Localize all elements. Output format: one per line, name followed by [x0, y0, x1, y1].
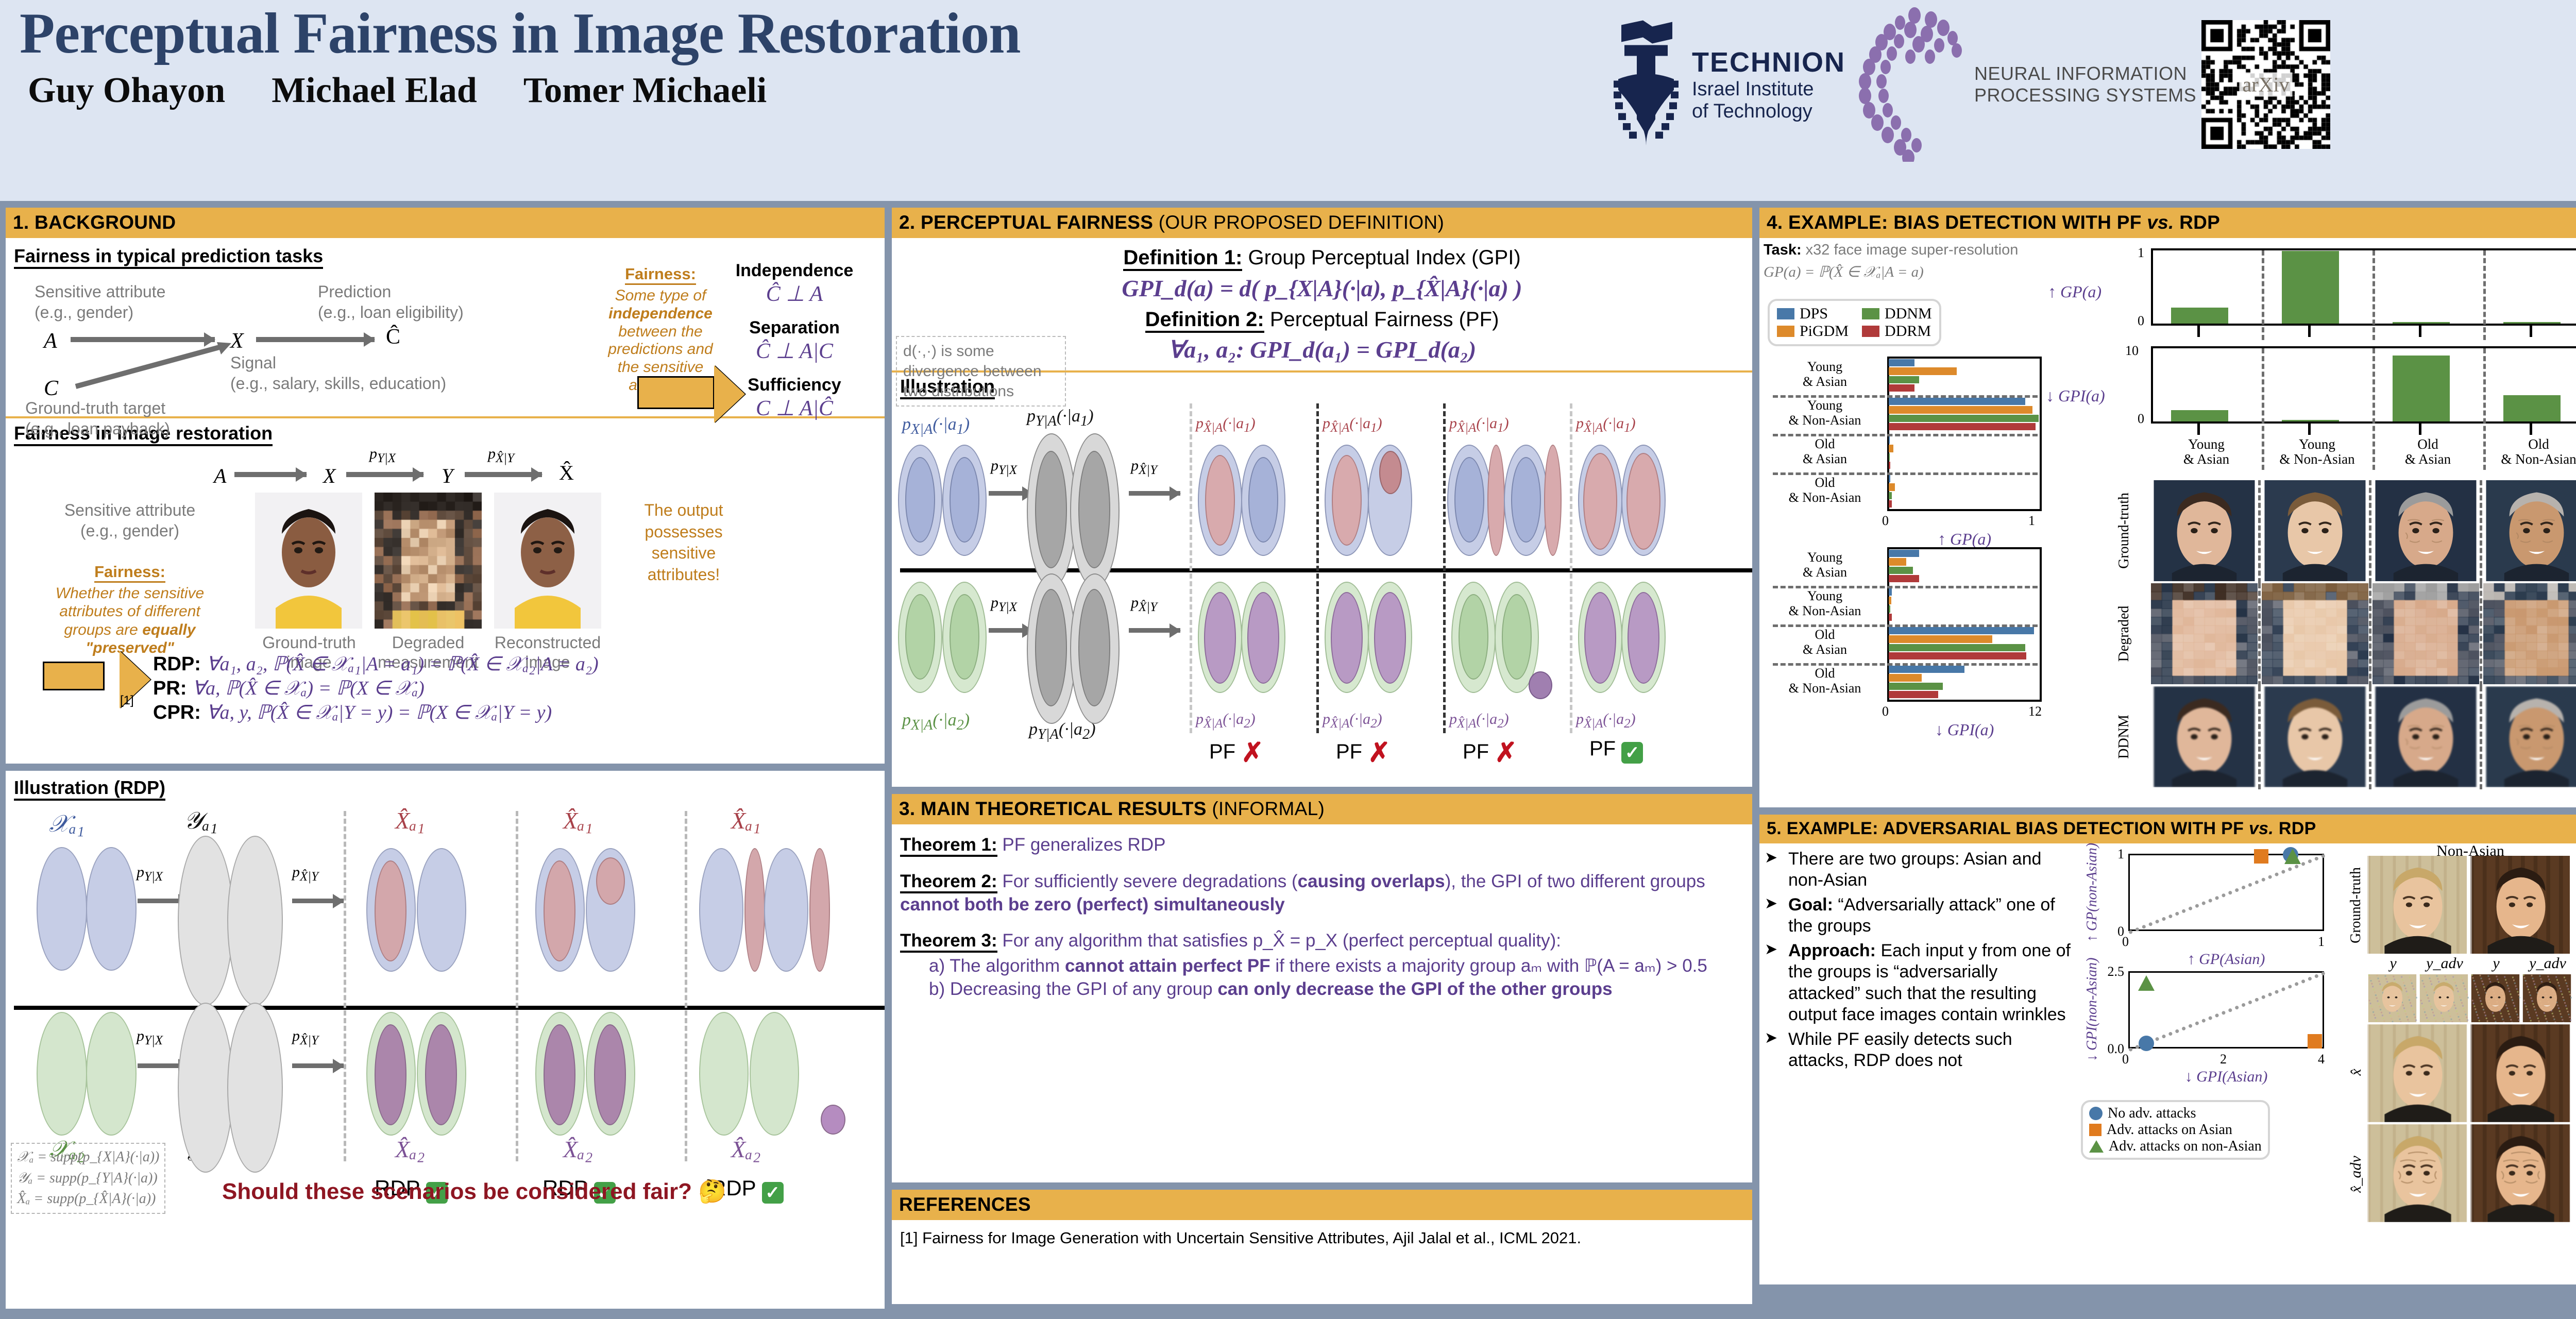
square-marker-icon: [2089, 1124, 2102, 1136]
pf-blob: [1459, 594, 1488, 680]
scatter-point-square: [2308, 1034, 2322, 1049]
col-label-3: y_adv: [2522, 955, 2573, 972]
panel-references: REFERENCES [1] Fairness for Image Genera…: [890, 1188, 1754, 1306]
criterion-independence: Independence Ĉ ⊥ A: [720, 261, 869, 307]
restoration-node-A: A: [214, 464, 226, 488]
x-tick: [2197, 424, 2200, 435]
legend-item-ddnm: DDNM: [1862, 305, 1932, 323]
circle-marker-icon: [2089, 1107, 2103, 1120]
blob-s1-top-1-inner: [375, 860, 406, 961]
prediction-label: Prediction (e.g., loan eligibility): [318, 281, 464, 323]
col-label-0: y: [2367, 955, 2419, 972]
blob-s3-top-4: [809, 848, 830, 972]
bar-DPS: [1889, 627, 2034, 634]
column-1: 1. BACKGROUND Fairness in typical predic…: [4, 206, 886, 1317]
y-tick: 0: [2099, 924, 2124, 939]
poster-header: Perceptual Fairness in Image Restoration…: [0, 0, 2576, 201]
face-degraded: [375, 493, 482, 629]
restoration-arrow-1: [234, 472, 307, 477]
definitions-arrow-icon: [43, 662, 105, 690]
pf-verdict-2: PF ✗: [1336, 737, 1391, 768]
blob-s3-top-3: [764, 848, 808, 972]
category-label: Young& Asian: [1769, 550, 1881, 580]
node-A: A: [44, 329, 57, 353]
face-ground-truth-1: [2367, 856, 2468, 954]
bar: [2171, 308, 2229, 324]
method-legend: DPS PiGDM DDNM: [1768, 299, 1941, 346]
legend-attack-non-asian: Adv. attacks on non-Asian: [2089, 1138, 2262, 1155]
fairness-arrow-icon: [637, 376, 715, 409]
scatter-point-square: [2254, 849, 2268, 864]
y-tick-max: 10: [2125, 343, 2139, 359]
neurips-dots-icon: [1851, 7, 1969, 162]
task-line: Task: x32 face image super-resolution: [1764, 241, 2093, 260]
adversarial-legend: No adv. attacks Adv. attacks on Asian Ad…: [2081, 1100, 2270, 1160]
legend-item-dps: DPS: [1777, 305, 1849, 323]
task-description: Task: x32 face image super-resolution GP…: [1764, 241, 2093, 281]
pf-blob: [1626, 453, 1660, 550]
column-separator: [2480, 480, 2482, 583]
blob-s1-bot-2-inner: [425, 1024, 457, 1125]
blob-s2-bot-1-inner: [544, 1024, 575, 1125]
bar-DPS: [1889, 398, 2025, 405]
pf-label-pY-a1: pY|A(·|a1): [1027, 407, 1094, 430]
category-label: Old& Asian: [1769, 437, 1881, 466]
criterion-separation: Separation Ĉ ⊥ A|C: [720, 318, 869, 364]
rdp-support-legend: 𝒳ₐ = supp(p_{X|A}(·|a)) 𝒴ₐ = supp(p_{Y|A…: [11, 1143, 165, 1214]
node-C: C: [44, 376, 58, 401]
panel-background-heading: 1. BACKGROUND: [6, 208, 885, 238]
definition-cpr: CPR: ∀a, y, ℙ(X̂ ∈ 𝒳ₐ|Y = y) = ℙ(X ∈ 𝒳ₐ|…: [153, 701, 876, 724]
chart-gp-scatter: 0101↑ GP(Asian)↑ GP(non-Asian): [2079, 854, 2347, 980]
fairness-question: Should these scenarios be considered fai…: [222, 1178, 726, 1205]
sensitive-attribute-label: Sensitive attribute (e.g., gender): [35, 281, 165, 323]
qr-code[interactable]: arXiv: [2201, 20, 2330, 149]
category-label: Young& Non-Asian: [1769, 398, 1881, 428]
adversarial-bullets: There are two groups: Asian and non-Asia…: [1765, 849, 2074, 1072]
definition-1-formula: GPI_d(a) = d( p_{X|A}(·|a), p_{X̂|A}(·|a…: [900, 275, 1744, 302]
bar: [2282, 251, 2340, 324]
x-axis-label: ↑ GP(a): [1887, 530, 2042, 549]
neurips-text: NEURAL INFORMATION PROCESSING SYSTEMS: [1974, 63, 2196, 107]
x-tick: 2: [2220, 1052, 2227, 1067]
face-cell: [2372, 480, 2479, 581]
category-label: Old& Asian: [2372, 437, 2483, 467]
definition-rdp: RDP: ∀a₁, a₂, ℙ(X̂ ∈ 𝒳ₐ₁|A = a₁) = ℙ(X̂ …: [153, 652, 876, 675]
column-separator: [2258, 686, 2261, 789]
chart-gp-vertical: 01: [2120, 248, 2576, 343]
bar-DDRM: [1889, 500, 1892, 508]
triangle-marker-icon: [2089, 1140, 2104, 1153]
pf-verdict-label: PF: [1463, 740, 1489, 763]
y-tick: 2.5: [2099, 964, 2124, 979]
theorem-3-item-b: b) Decreasing the GPI of any group can o…: [929, 978, 1744, 1001]
scatter-point-triangle: [2138, 975, 2155, 991]
ground-truth-target-label: Ground-truth target (e.g., loan payback): [25, 398, 170, 439]
pf-verdict-label: PF: [1589, 737, 1616, 760]
author-2: Michael Elad: [272, 70, 477, 111]
bar-DPS: [1889, 666, 1964, 673]
edge-label-pXhatY: pX̂|Y: [488, 445, 514, 466]
reference-entry-1: [1] Fairness for Image Generation with U…: [900, 1227, 1744, 1249]
x-tick-max: 1: [2028, 513, 2035, 529]
bar-DDRM: [1889, 384, 1914, 392]
bullet-4: While PF easily detects such attacks, RD…: [1765, 1029, 2074, 1072]
label-Xhat-a2-s2: X̂ₐ₂: [563, 1136, 593, 1163]
row-label-degraded: Degraded: [2116, 582, 2132, 685]
label-Xhat-a2-s3: X̂ₐ₂: [731, 1136, 761, 1163]
cross-icon: ✗: [1241, 738, 1264, 768]
restoration-node-Y: Y: [442, 464, 453, 488]
row-label-xhat-adv: x̂_adv: [2347, 1128, 2365, 1221]
pf-blob: [1628, 592, 1659, 684]
panel-pf-heading: 2. PERCEPTUAL FAIRNESS (OUR PROPOSED DEF…: [892, 208, 1752, 238]
bar-DDNM: [1889, 683, 1943, 690]
chart-gpi-vertical: Young& AsianYoung& Non-AsianOld& AsianOl…: [2120, 346, 2576, 473]
scenario-divider-2: [516, 811, 518, 1161]
column-separator: [2480, 583, 2482, 686]
bar-PiGDM: [1889, 367, 1957, 375]
pf-blob: [1205, 455, 1235, 546]
group-separator: [14, 1006, 885, 1010]
bar-DPS: [1889, 588, 1892, 596]
bar: [2503, 322, 2561, 324]
edge-pYX-2: pY|X: [137, 1027, 163, 1048]
technion-name: TECHNION: [1692, 46, 1845, 78]
pf-edge-pXhatY-2: pX̂|Y: [1131, 594, 1157, 615]
legend-swatch-dps: [1777, 308, 1794, 319]
face-reconstructed-adv-2: [2470, 1124, 2571, 1222]
bar-DPS: [1889, 550, 1919, 557]
face-cell: [2483, 686, 2576, 787]
category-separator: [2483, 250, 2486, 340]
pf-verdict-label: PF: [1336, 740, 1362, 763]
category-label: Young& Non-Asian: [2262, 437, 2372, 467]
bar-DDRM: [1889, 575, 1919, 582]
pf-blob-y2-2b: [1078, 589, 1110, 706]
x-tick: [2530, 424, 2532, 435]
pf-arrow-4: [1129, 628, 1180, 633]
face-ground-truth-2: [2470, 856, 2571, 954]
face-cell: [2483, 480, 2576, 581]
author-1: Guy Ohayon: [28, 70, 225, 111]
pf-illustration-diagram: pX|A(·|a1) pY|A(·|a1) pX|A(·|a2) pY|A(·|…: [900, 403, 1744, 764]
pf-label-pY-a2: pY|A(·|a2): [1029, 720, 1096, 743]
bar-PiGDM: [1889, 558, 1906, 565]
pf-label-pXhat-a1-1: pX̂|A(·|a1): [1196, 415, 1256, 435]
chart-gpi-scatter: 0240.02.5↓ GPI(Asian)↓ GPI(non-Asian): [2079, 971, 2347, 1098]
x-axis-label: ↓ GPI(a): [1887, 720, 2042, 739]
column-separator: [2369, 480, 2371, 583]
pf-blob-y1-2b: [1078, 451, 1110, 568]
arrow-rdp-2: [292, 899, 344, 903]
pf-blob: [1332, 455, 1362, 546]
face-measurement-3: [2470, 974, 2520, 1022]
legend-swatch-ddnm: [1862, 308, 1879, 319]
bar: [2393, 356, 2450, 421]
reference-marker: [1]: [120, 694, 134, 708]
y-axis-label: ↑ GP(non-Asian): [2084, 841, 2100, 944]
theorem-1: Theorem 1: PF generalizes RDP: [900, 834, 1744, 857]
face-cell: [2262, 686, 2368, 787]
blob-Ya2-1: [178, 1003, 233, 1173]
panel-references-heading: REFERENCES: [892, 1190, 1752, 1220]
blob-Xa2-1: [37, 1012, 87, 1136]
restoration-sensitive-label: Sensitive attribute (e.g., gender): [45, 500, 215, 541]
legend-item-pigdm: PiGDM: [1777, 323, 1849, 340]
face-measurement-2: [2419, 974, 2469, 1022]
category-separator: [2262, 250, 2264, 340]
face-measurement-1: [2367, 974, 2417, 1022]
legend-swatch-ddrm: [1862, 326, 1879, 337]
category-separator: [1773, 434, 2038, 436]
arrow-X-to-Chat: [256, 337, 375, 342]
pf-label-pXhat-a2-2: pX̂|A(·|a2): [1323, 711, 1382, 731]
face-reconstructed-1: [2367, 1024, 2468, 1122]
pf-group-separator: [900, 568, 1752, 572]
panel-bias-detection: 4. EXAMPLE: BIAS DETECTION WITH PF vs. R…: [1758, 206, 2576, 809]
restoration-arrow-2: [346, 472, 423, 477]
blob-Ya2-2: [227, 1003, 283, 1173]
x-axis-label: ↓ GPI(Asian): [2128, 1068, 2324, 1086]
pf-label-pXhat-a2-3: pX̂|A(·|a2): [1449, 711, 1509, 731]
category-separator: [2372, 250, 2375, 340]
face-reconstructed: [494, 493, 601, 629]
category-label: Old& Non-Asian: [1769, 666, 1881, 696]
category-label: Old& Non-Asian: [1769, 476, 1881, 505]
edge-pXhatY-1: pX̂|Y: [292, 864, 318, 884]
label-Xa1: 𝒳ₐ₁: [49, 810, 84, 838]
face-measurement-4: [2522, 974, 2572, 1022]
bullet-3: Approach: Each input y from one of the g…: [1765, 940, 2074, 1026]
category-label: Young& Asian: [1769, 360, 1881, 389]
fairness-note: Fairness: Some type of independence betw…: [601, 265, 720, 395]
pf-label-pXhat-a1-2: pX̂|A(·|a1): [1323, 415, 1382, 435]
face-cell: [2372, 583, 2479, 684]
y-tick-max: 1: [2138, 245, 2144, 261]
pf-edge-pYX-1: pY|X: [991, 457, 1017, 478]
x-tick: [2419, 326, 2421, 337]
y-axis-label: ↓ GPI(non-Asian): [2084, 958, 2100, 1061]
bar-DDRM: [1889, 462, 1890, 469]
row-label-ground-truth: Ground-truth: [2348, 859, 2364, 952]
panel-theorems-heading: 3. MAIN THEORETICAL RESULTS (INFORMAL): [892, 794, 1752, 824]
col-label-1: y_adv: [2419, 955, 2470, 972]
chart-gp-horizontal: Young& AsianYoung& Non-AsianOld& AsianOl…: [1769, 357, 2062, 555]
signal-label: Signal (e.g., salary, skills, education): [230, 352, 446, 394]
pf-arrow-3: [989, 628, 1033, 633]
technion-logo: TECHNION Israel Institute of Technology: [1607, 18, 1845, 151]
pf-blob: [1204, 592, 1236, 684]
row-label-ddnm: DDNM: [2116, 685, 2132, 788]
x-tick: [2308, 424, 2311, 435]
scatter-point-triangle: [2284, 849, 2301, 864]
theorem-2: Theorem 2: For sufficiently severe degra…: [900, 870, 1744, 917]
face-reconstructed-adv-1: [2367, 1124, 2468, 1222]
pf-blob: [1331, 592, 1363, 684]
x-tick-min: 0: [1882, 513, 1889, 529]
blob-Xa1-2: [86, 847, 137, 971]
theorem-3-item-a: a) The algorithm cannot attain perfect P…: [929, 955, 1744, 978]
bar-DPS: [1889, 359, 1914, 366]
bar-DDNM: [1889, 567, 1913, 574]
column-separator: [2258, 480, 2261, 583]
x-tick: [2197, 326, 2200, 337]
bar-DPS: [1889, 436, 1890, 444]
pf-blob-a1-2b: [950, 457, 979, 543]
page-title: Perceptual Fairness in Image Restoration: [20, 4, 1607, 63]
bar: [2503, 395, 2561, 421]
pf-verdict-4: PF ✓: [1589, 737, 1643, 764]
face-cell: [2372, 686, 2479, 787]
blob-s3-bot-2: [750, 1012, 799, 1136]
blob-s3-top-2: [744, 848, 765, 972]
bar-PiGDM: [1889, 483, 1895, 491]
fairness-criteria-list: Independence Ĉ ⊥ A Separation Ĉ ⊥ A|C Su…: [720, 261, 869, 421]
category-label: Old& Asian: [1769, 628, 1881, 657]
bar-DDRM: [1889, 652, 2026, 659]
label-Ya1: 𝒴ₐ₁: [184, 807, 218, 835]
legend-attack-asian: Adv. attacks on Asian: [2089, 1122, 2262, 1138]
y-tick-min: 0: [2138, 313, 2144, 329]
bar-DDRM: [1889, 691, 1938, 698]
pf-blob-a1-1b: [905, 457, 935, 543]
bullet-2: Goal: “Adversarially attack” one of the …: [1765, 894, 2074, 937]
vchart-gp-axis-label: ↑ GP(a): [2048, 282, 2102, 301]
panel-theoretical-results: 3. MAIN THEORETICAL RESULTS (INFORMAL) T…: [890, 792, 1754, 1184]
column-separator: [2369, 686, 2371, 789]
col-label-2: y: [2470, 955, 2522, 972]
neurips-line-2: PROCESSING SYSTEMS: [1974, 84, 2196, 106]
category-separator: [1773, 472, 2038, 475]
column-2: 2. PERCEPTUAL FAIRNESS (OUR PROPOSED DEF…: [890, 206, 1754, 1317]
face-cell: [2262, 480, 2368, 581]
column-separator: [2480, 686, 2482, 789]
subheading-illustration-rdp: Illustration (RDP): [14, 777, 165, 801]
pf-blob: [1502, 594, 1532, 680]
bar: [2282, 420, 2340, 421]
category-label: Young& Asian: [2151, 437, 2262, 467]
pf-blob: [1379, 451, 1402, 494]
pf-blob: [1248, 457, 1278, 543]
pf-blob: [1583, 453, 1617, 550]
pf-blob-a2-1b: [905, 594, 935, 680]
technion-sub-2: of Technology: [1692, 100, 1845, 123]
thinking-face-icon: 🤔: [698, 1179, 726, 1204]
bar-PiGDM: [1889, 635, 1992, 642]
pf-verdict-3: PF ✗: [1463, 737, 1517, 768]
blob-s3-top-1: [699, 848, 743, 972]
bar-DDRM: [1889, 614, 1892, 621]
pf-blob: [1247, 592, 1279, 684]
face-cell: [2151, 583, 2258, 684]
blob-s2-bot-2-inner: [594, 1024, 626, 1125]
pf-label-pXhat-a2-1: pX̂|A(·|a2): [1196, 711, 1256, 731]
face-reconstructed-2: [2470, 1024, 2571, 1122]
panel-adversarial-heading: 5. EXAMPLE: ADVERSARIAL BIAS DETECTION W…: [1759, 815, 2576, 843]
bar-DDNM: [1889, 492, 1892, 499]
definition-1: Definition 1: Group Perceptual Index (GP…: [900, 246, 1744, 269]
column-3: 4. EXAMPLE: BIAS DETECTION WITH PF vs. R…: [1758, 206, 2576, 1317]
x-tick: [2530, 326, 2532, 337]
subheading-fairness-prediction: Fairness in typical prediction tasks: [14, 245, 323, 269]
node-Chat: Ĉ: [386, 325, 400, 349]
pf-blob: [1544, 445, 1562, 556]
pf-label-pX-a2: pX|A(·|a2): [902, 711, 970, 734]
blob-s2-top-1-inner: [544, 860, 575, 961]
x-tick: [2308, 326, 2311, 337]
pf-divider-2: [1443, 403, 1446, 733]
pf-verdict-1: PF ✗: [1209, 737, 1264, 768]
fairness-restoration-note: Fairness: Whether the sensitive attribut…: [45, 563, 215, 657]
bar-PiGDM: [1889, 445, 1893, 452]
pf-verdict-label: PF: [1209, 740, 1235, 763]
author-list: Guy Ohayon Michael Elad Tomer Michaeli: [20, 70, 1607, 111]
bar-DPS: [1889, 475, 1890, 482]
pf-blob: [1529, 671, 1552, 699]
panel-perceptual-fairness: 2. PERCEPTUAL FAIRNESS (OUR PROPOSED DEF…: [890, 206, 1754, 788]
blob-s3-bot-outlier: [821, 1105, 845, 1135]
edge-pYX-1: pY|X: [137, 864, 163, 884]
neurips-line-1: NEURAL INFORMATION: [1974, 63, 2196, 84]
bar-DDNM: [1889, 453, 1890, 461]
face-grid-section5: Non-Asian Ground-truthyy_advyy_adv: [2331, 843, 2573, 1247]
restoration-diagram: A X pY|X Y pX̂|Y X̂ Sensitive attribute …: [14, 453, 876, 670]
chart-gpi-horizontal: Young& AsianYoung& Non-AsianOld& AsianOl…: [1769, 547, 2062, 746]
edge-label-pYX: pY|X: [369, 445, 396, 466]
bar-DDNM: [1889, 605, 1890, 613]
legend-swatch-pigdm: [1777, 326, 1794, 337]
face-cell: [2262, 583, 2368, 684]
pf-blob: [1487, 445, 1505, 556]
face-ground-truth: [255, 493, 362, 629]
pf-divider-0: [1190, 403, 1192, 733]
fairness-definitions: [1] RDP: ∀a₁, a₂, ℙ(X̂ ∈ 𝒳ₐ₁|A = a₁) = ℙ…: [14, 652, 876, 724]
restoration-arrow-3: [465, 472, 542, 477]
category-label: Old& Non-Asian: [2483, 437, 2576, 467]
pf-divider-1: [1316, 403, 1319, 733]
label-Xhat-a1-s3: X̂ₐ₁: [731, 807, 761, 834]
bar: [2393, 322, 2450, 324]
cross-icon: ✗: [1495, 738, 1517, 768]
check-icon: ✓: [1621, 742, 1643, 764]
label-Xhat-a1-s1: X̂ₐ₁: [395, 807, 425, 834]
definition-pr: PR: ∀a, ℙ(X̂ ∈ 𝒳ₐ) = ℙ(X ∈ 𝒳ₐ): [153, 677, 876, 700]
neurips-logo: NEURAL INFORMATION PROCESSING SYSTEMS: [1851, 7, 2196, 162]
logo-row: TECHNION Israel Institute of Technology: [1607, 7, 2330, 162]
scenario-divider-3: [685, 811, 687, 1161]
vchart-gpi-axis-label: ↓ GPI(a): [2046, 386, 2105, 405]
x-axis-label: ↑ GP(Asian): [2128, 951, 2324, 968]
category-label: Young& Non-Asian: [1769, 589, 1881, 618]
arrow-C-to-X: [71, 337, 241, 394]
blob-Ya1-1: [178, 836, 233, 1006]
pf-divider-3: [1570, 403, 1572, 733]
x-tick-max: 12: [2028, 704, 2042, 719]
restoration-node-X: X: [323, 464, 335, 488]
pf-edge-pXhatY-1: pX̂|Y: [1131, 457, 1157, 478]
face-cell: [2151, 686, 2258, 787]
bar: [2171, 410, 2229, 421]
blob-s1-top-2: [417, 848, 466, 972]
arrow-rdp-4: [292, 1063, 344, 1068]
bar-PiGDM: [1889, 406, 2032, 413]
pf-arrow-1: [989, 491, 1033, 496]
pf-blob: [1584, 592, 1616, 684]
technion-text: TECHNION Israel Institute of Technology: [1692, 46, 1845, 122]
pf-label-pX-a1: pX|A(·|a1): [902, 415, 970, 438]
restoration-node-Xhat: X̂: [559, 461, 574, 485]
